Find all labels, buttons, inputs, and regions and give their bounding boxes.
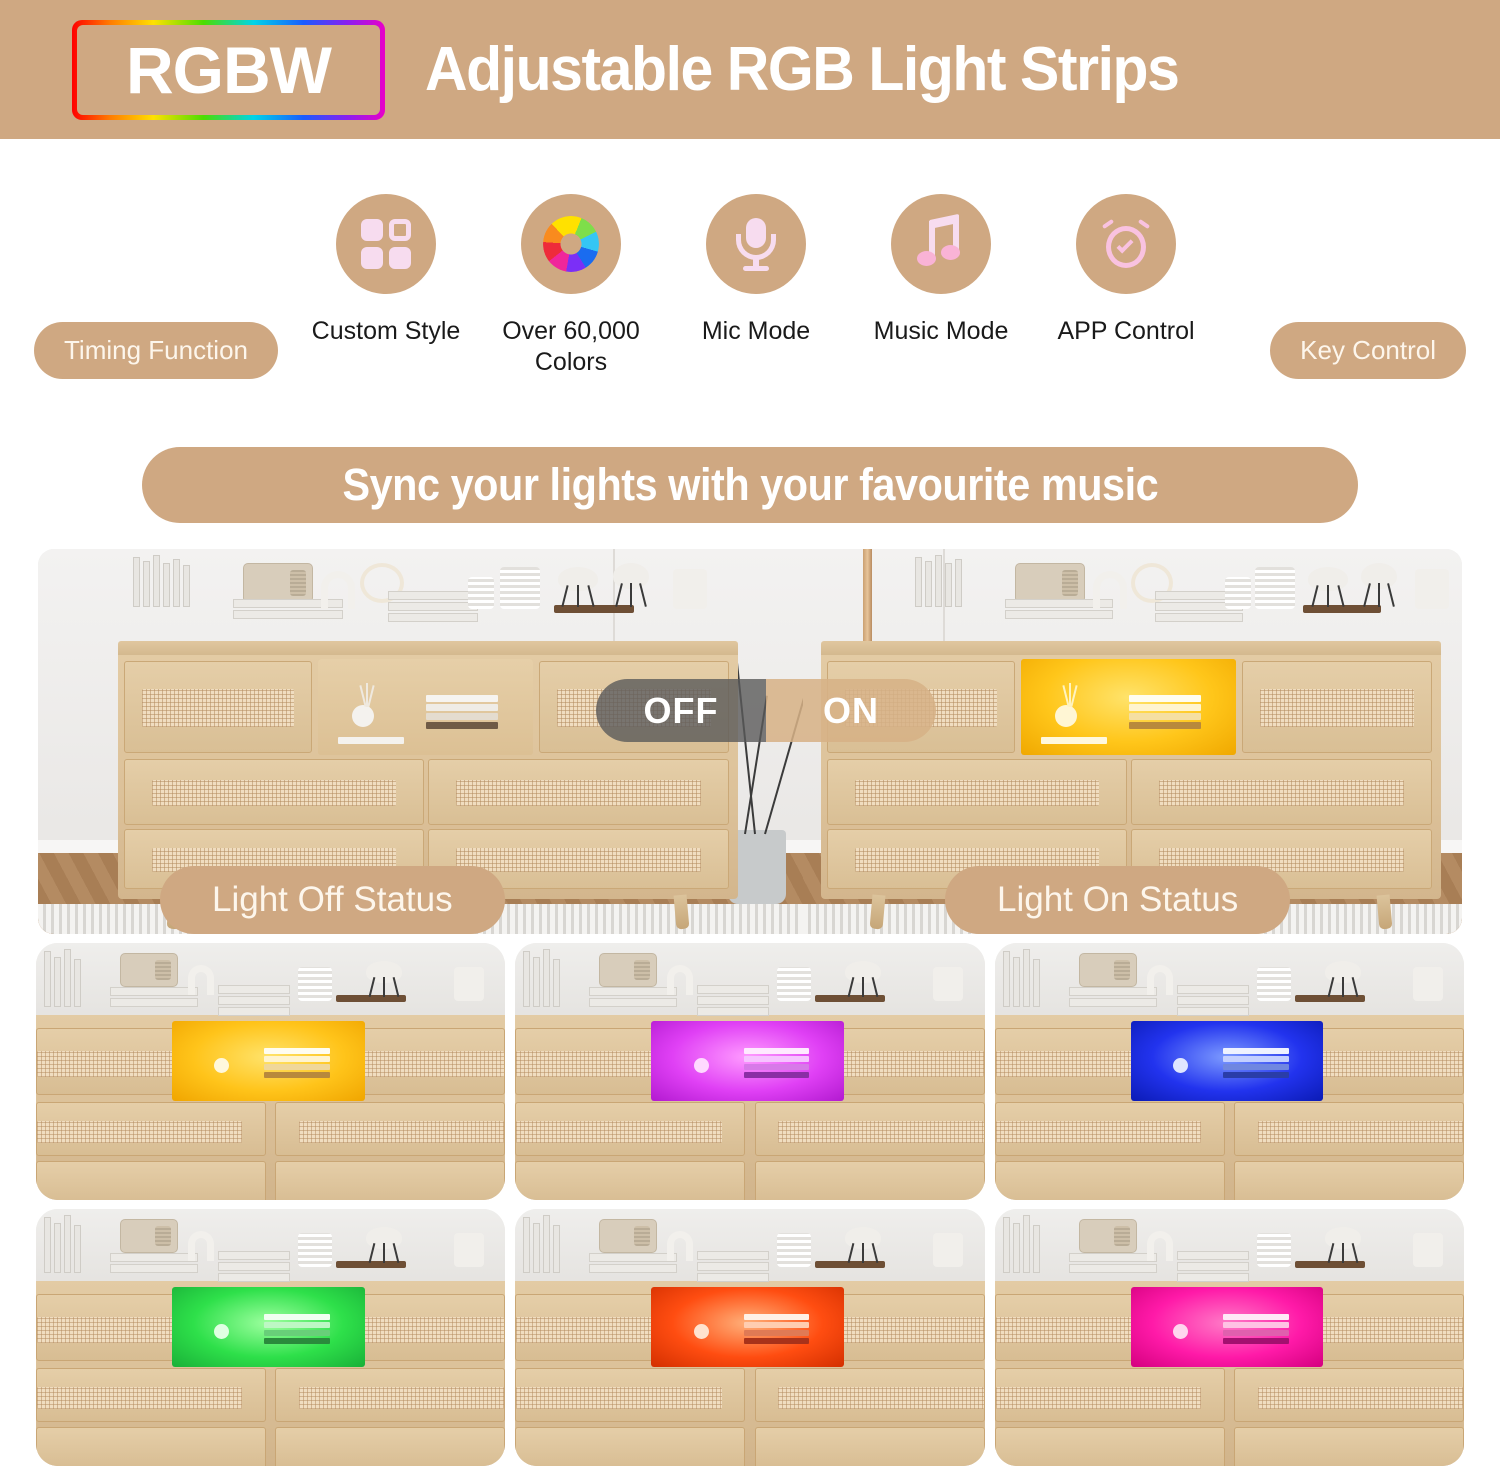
drawer	[995, 1028, 1150, 1095]
cane-panel	[364, 1317, 505, 1343]
drawer	[515, 1427, 745, 1466]
stacked-books	[388, 591, 478, 624]
off-on-toggle[interactable]: OFF ON	[596, 679, 936, 742]
drawer	[36, 1028, 191, 1095]
thumbnail-orange-light[interactable]	[515, 1209, 984, 1466]
feature-custom-style: Custom Style	[336, 194, 436, 379]
vintage-radio	[1015, 563, 1085, 603]
drawer	[755, 1102, 985, 1156]
tripod-ornament	[1308, 567, 1348, 607]
cane-panel	[843, 1051, 984, 1077]
drawer	[124, 759, 424, 825]
glass-vase	[1413, 967, 1443, 1001]
small-vase	[1055, 705, 1077, 727]
cane-panel	[1260, 689, 1414, 727]
cane-panel	[456, 780, 701, 807]
color-wheel-icon	[543, 216, 599, 272]
thumb-scene	[36, 1209, 505, 1466]
drawer	[755, 1427, 985, 1466]
cane-panel	[516, 1317, 657, 1343]
feature-label: Custom Style	[312, 316, 461, 347]
stacked-books	[218, 1251, 290, 1284]
cane-panel	[516, 1387, 721, 1409]
drawer	[124, 661, 312, 753]
niche-contents	[1021, 659, 1236, 755]
cane-panel	[299, 1121, 504, 1143]
vintage-radio	[120, 1219, 178, 1253]
cane-panel	[37, 1387, 242, 1409]
dresser-leg	[1377, 895, 1393, 930]
textured-vase	[298, 967, 332, 1001]
display-niche-off	[318, 659, 533, 755]
flat-book	[338, 737, 404, 746]
cane-panel	[1159, 780, 1404, 807]
thumbnail-green-light[interactable]	[36, 1209, 505, 1466]
cane-panel	[996, 1121, 1201, 1143]
arc-lamp	[1147, 1231, 1173, 1261]
thumbnail-yellow-light[interactable]	[36, 943, 505, 1200]
light-off-status-pill: Light Off Status	[160, 866, 505, 934]
drawer	[995, 1368, 1225, 1422]
glass-vase	[933, 967, 963, 1001]
drawer	[515, 1102, 745, 1156]
cane-panel	[516, 1121, 721, 1143]
glass-vase	[454, 1233, 484, 1267]
textured-vase	[298, 1233, 332, 1267]
feature-app-control: APP Control	[1076, 194, 1176, 379]
stacked-books	[110, 987, 198, 1009]
vintage-radio	[599, 1219, 657, 1253]
vintage-radio	[599, 953, 657, 987]
drawer	[1242, 661, 1432, 753]
cane-panel	[778, 1121, 983, 1143]
feature-music-mode: Music Mode	[891, 194, 991, 379]
page-title: Adjustable RGB Light Strips	[425, 34, 1178, 105]
glass-vase	[933, 1233, 963, 1267]
leaning-books	[1003, 1215, 1040, 1273]
drawer	[275, 1161, 505, 1200]
timer-check-icon	[1098, 216, 1154, 272]
color-thumbnail-grid	[36, 943, 1464, 1466]
drawer	[275, 1427, 505, 1466]
textured-vase	[1225, 577, 1251, 609]
thumbnail-pink-light[interactable]	[995, 1209, 1464, 1466]
display-niche	[172, 1287, 364, 1367]
vintage-radio	[1079, 953, 1137, 987]
stacked-books	[1069, 1253, 1157, 1275]
toggle-on-segment[interactable]: ON	[766, 679, 936, 742]
feature-icon-circle	[1076, 194, 1176, 294]
thumbnail-magenta-light[interactable]	[515, 943, 984, 1200]
thumb-scene	[995, 1209, 1464, 1466]
tripod-ornament	[613, 563, 649, 607]
leaning-books	[133, 555, 190, 607]
drawer	[515, 1368, 745, 1422]
stacked-books	[589, 1253, 677, 1275]
cane-panel	[778, 1387, 983, 1409]
book-stack	[264, 1314, 329, 1346]
light-on-status-pill: Light On Status	[945, 866, 1290, 934]
drawer	[515, 1294, 670, 1361]
book-stack	[1129, 695, 1201, 731]
dried-stem	[367, 685, 374, 707]
drawer	[995, 1294, 1150, 1361]
flat-book	[1041, 737, 1107, 746]
book-stack	[744, 1314, 809, 1346]
drawer	[995, 1161, 1225, 1200]
arc-lamp	[1093, 571, 1127, 609]
drawer	[36, 1102, 266, 1156]
cane-panel	[456, 848, 701, 872]
key-control-pill: Key Control	[1270, 322, 1466, 379]
thumb-scene	[995, 943, 1464, 1200]
toggle-off-segment[interactable]: OFF	[596, 679, 766, 742]
feature-label: Music Mode	[874, 316, 1009, 347]
textured-vase	[1255, 567, 1295, 609]
glass-vase	[673, 569, 707, 609]
arc-lamp	[188, 965, 214, 995]
display-niche	[651, 1287, 843, 1367]
tripod-ornament	[1361, 563, 1397, 607]
feature-label: Over 60,000 Colors	[496, 316, 646, 379]
leaning-books	[523, 1215, 560, 1273]
display-niche-on	[1021, 659, 1236, 755]
small-vase	[352, 705, 374, 727]
arc-lamp	[1147, 965, 1173, 995]
drawer	[275, 1368, 505, 1422]
textured-vase	[500, 567, 540, 609]
tripod-ornament	[366, 1227, 402, 1263]
display-niche	[651, 1021, 843, 1101]
cane-panel	[37, 1051, 178, 1077]
thumb-scene	[36, 943, 505, 1200]
drawer	[36, 1161, 266, 1200]
feature-colors: Over 60,000 Colors	[521, 194, 621, 379]
microphone-icon	[730, 216, 782, 272]
textured-vase	[1257, 967, 1291, 1001]
cane-panel	[855, 780, 1099, 807]
vintage-radio	[243, 563, 313, 603]
cane-panel	[516, 1051, 657, 1077]
drawer	[350, 1294, 505, 1361]
cane-panel	[996, 1387, 1201, 1409]
leaning-books	[44, 1215, 81, 1273]
display-niche	[172, 1021, 364, 1101]
vintage-radio	[120, 953, 178, 987]
sync-banner: Sync your lights with your favourite mus…	[142, 447, 1358, 523]
drawer	[1234, 1102, 1464, 1156]
drawer	[995, 1427, 1225, 1466]
sync-banner-text: Sync your lights with your favourite mus…	[342, 459, 1158, 511]
tripod-ornament	[1325, 1227, 1361, 1263]
textured-vase	[777, 967, 811, 1001]
leaning-books	[523, 949, 560, 1007]
stacked-books	[110, 1253, 198, 1275]
cane-panel	[299, 1387, 504, 1409]
drawer	[1131, 759, 1432, 825]
timing-function-pill: Timing Function	[34, 322, 278, 379]
feature-row: Custom Style Over 60,000 Colors Mic Mode	[0, 194, 1500, 439]
feature-icon-circle	[521, 194, 621, 294]
stacked-books	[1177, 985, 1249, 1018]
drawer	[515, 1028, 670, 1095]
arc-lamp	[188, 1231, 214, 1261]
drawer	[1309, 1028, 1464, 1095]
cane-panel	[1322, 1051, 1463, 1077]
stacked-books	[218, 985, 290, 1018]
drawer	[830, 1294, 985, 1361]
cane-panel	[37, 1121, 242, 1143]
tripod-ornament	[845, 1227, 881, 1263]
arc-lamp	[667, 965, 693, 995]
music-note-icon	[915, 217, 967, 271]
display-niche	[1131, 1287, 1323, 1367]
cane-panel	[152, 780, 396, 807]
drawer	[350, 1028, 505, 1095]
drawer	[36, 1294, 191, 1361]
niche-contents	[318, 659, 533, 755]
vintage-radio	[1079, 1219, 1137, 1253]
drawer	[36, 1427, 266, 1466]
stacked-books	[697, 1251, 769, 1284]
drawer	[1234, 1161, 1464, 1200]
cane-panel	[1258, 1387, 1463, 1409]
glass-vase	[1415, 569, 1449, 609]
leaning-books	[1003, 949, 1040, 1007]
dresser-leg	[674, 895, 690, 930]
drawer	[755, 1368, 985, 1422]
tripod-ornament	[366, 961, 402, 997]
cane-panel	[996, 1317, 1137, 1343]
drawer	[995, 1102, 1225, 1156]
thumb-scene	[515, 1209, 984, 1466]
book-stack	[744, 1048, 809, 1080]
glass-vase	[1413, 1233, 1443, 1267]
thumb-scene	[515, 943, 984, 1200]
tripod-ornament	[558, 567, 598, 607]
stacked-books	[589, 987, 677, 1009]
textured-vase	[1257, 1233, 1291, 1267]
feature-label: APP Control	[1057, 316, 1194, 347]
small-vase	[694, 1324, 709, 1339]
cane-panel	[996, 1051, 1137, 1077]
cane-panel	[843, 1317, 984, 1343]
thumbnail-blue-light[interactable]	[995, 943, 1464, 1200]
page-header: RGBW Adjustable RGB Light Strips	[0, 0, 1500, 139]
feature-label: Mic Mode	[702, 316, 810, 347]
tripod-ornament	[1325, 961, 1361, 997]
feature-mic-mode: Mic Mode	[706, 194, 806, 379]
glass-vase	[454, 967, 484, 1001]
stacked-books	[1069, 987, 1157, 1009]
stacked-books	[1177, 1251, 1249, 1284]
drawer	[1234, 1368, 1464, 1422]
feature-icon-circle	[706, 194, 806, 294]
feature-icon-circle	[891, 194, 991, 294]
drawer	[1234, 1427, 1464, 1466]
drawer	[428, 759, 729, 825]
grid-squares-icon	[361, 219, 411, 269]
cane-panel	[364, 1051, 505, 1077]
cane-panel	[1258, 1121, 1463, 1143]
book-stack	[1223, 1314, 1288, 1346]
feature-icon-circle	[336, 194, 436, 294]
book-stack	[426, 695, 498, 731]
textured-vase	[777, 1233, 811, 1267]
textured-vase	[468, 577, 494, 609]
drawer	[36, 1368, 266, 1422]
dried-stem	[1070, 685, 1077, 707]
stacked-books	[697, 985, 769, 1018]
small-vase	[694, 1058, 709, 1073]
arc-lamp	[321, 571, 355, 609]
book-stack	[1223, 1048, 1288, 1080]
leaning-books	[915, 555, 962, 607]
arc-lamp	[667, 1231, 693, 1261]
drawer	[827, 759, 1127, 825]
rgbw-badge: RGBW	[72, 20, 385, 120]
rgbw-badge-label: RGBW	[126, 32, 331, 108]
display-niche	[1131, 1021, 1323, 1101]
book-stack	[264, 1048, 329, 1080]
cane-panel	[37, 1317, 178, 1343]
drawer	[275, 1102, 505, 1156]
leaning-books	[44, 949, 81, 1007]
drawer	[1309, 1294, 1464, 1361]
cane-panel	[1322, 1317, 1463, 1343]
drawer	[515, 1161, 745, 1200]
drawer	[755, 1161, 985, 1200]
drawer	[830, 1028, 985, 1095]
cane-panel	[142, 689, 295, 727]
tripod-ornament	[845, 961, 881, 997]
